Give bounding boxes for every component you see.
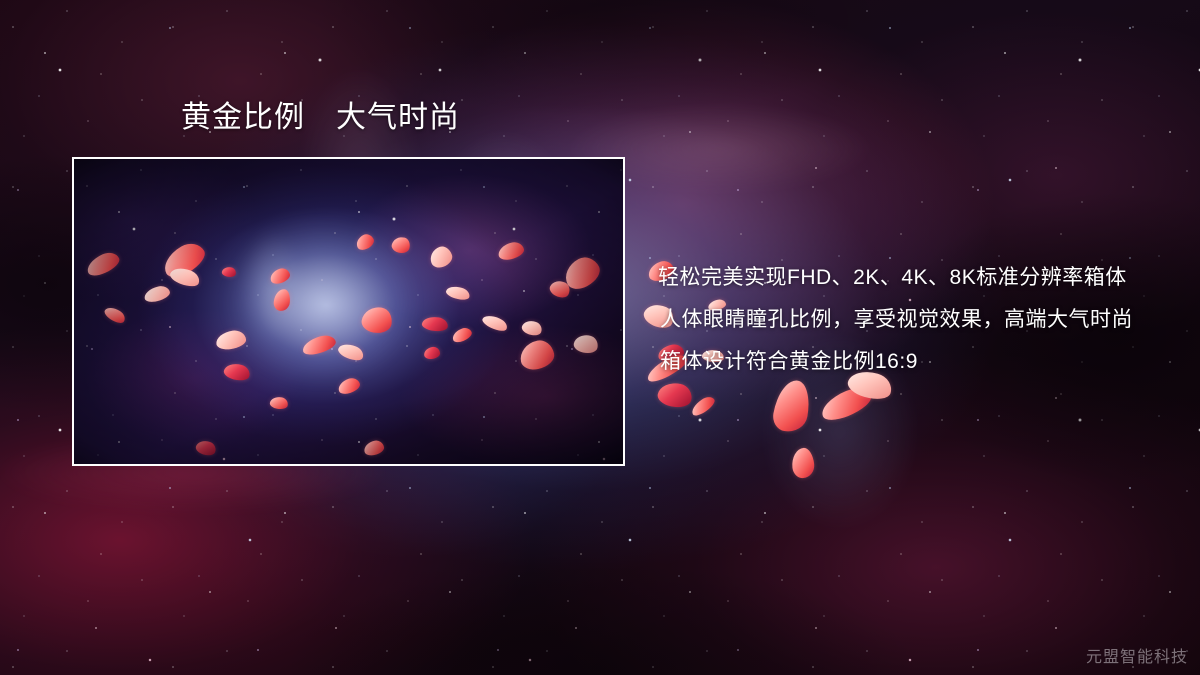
- body-copy-line-3: 箱体设计符合黄金比例16:9: [658, 341, 1178, 383]
- presentation-slide: 黄金比例 大气时尚: [0, 0, 1200, 675]
- framed-image: [72, 157, 625, 466]
- body-copy-block: 轻松完美实现FHD、2K、4K、8K标准分辨率箱体 人体眼睛瞳孔比例，享受视觉效…: [658, 257, 1178, 383]
- body-copy-line-2: 人体眼睛瞳孔比例，享受视觉效果，高端大气时尚: [658, 299, 1178, 341]
- slide-title: 黄金比例 大气时尚: [181, 101, 460, 134]
- body-copy-line-1: 轻松完美实现FHD、2K、4K、8K标准分辨率箱体: [658, 257, 1178, 299]
- frame-edge-vignette: [74, 159, 623, 464]
- watermark-label: 元盟智能科技: [1086, 643, 1188, 667]
